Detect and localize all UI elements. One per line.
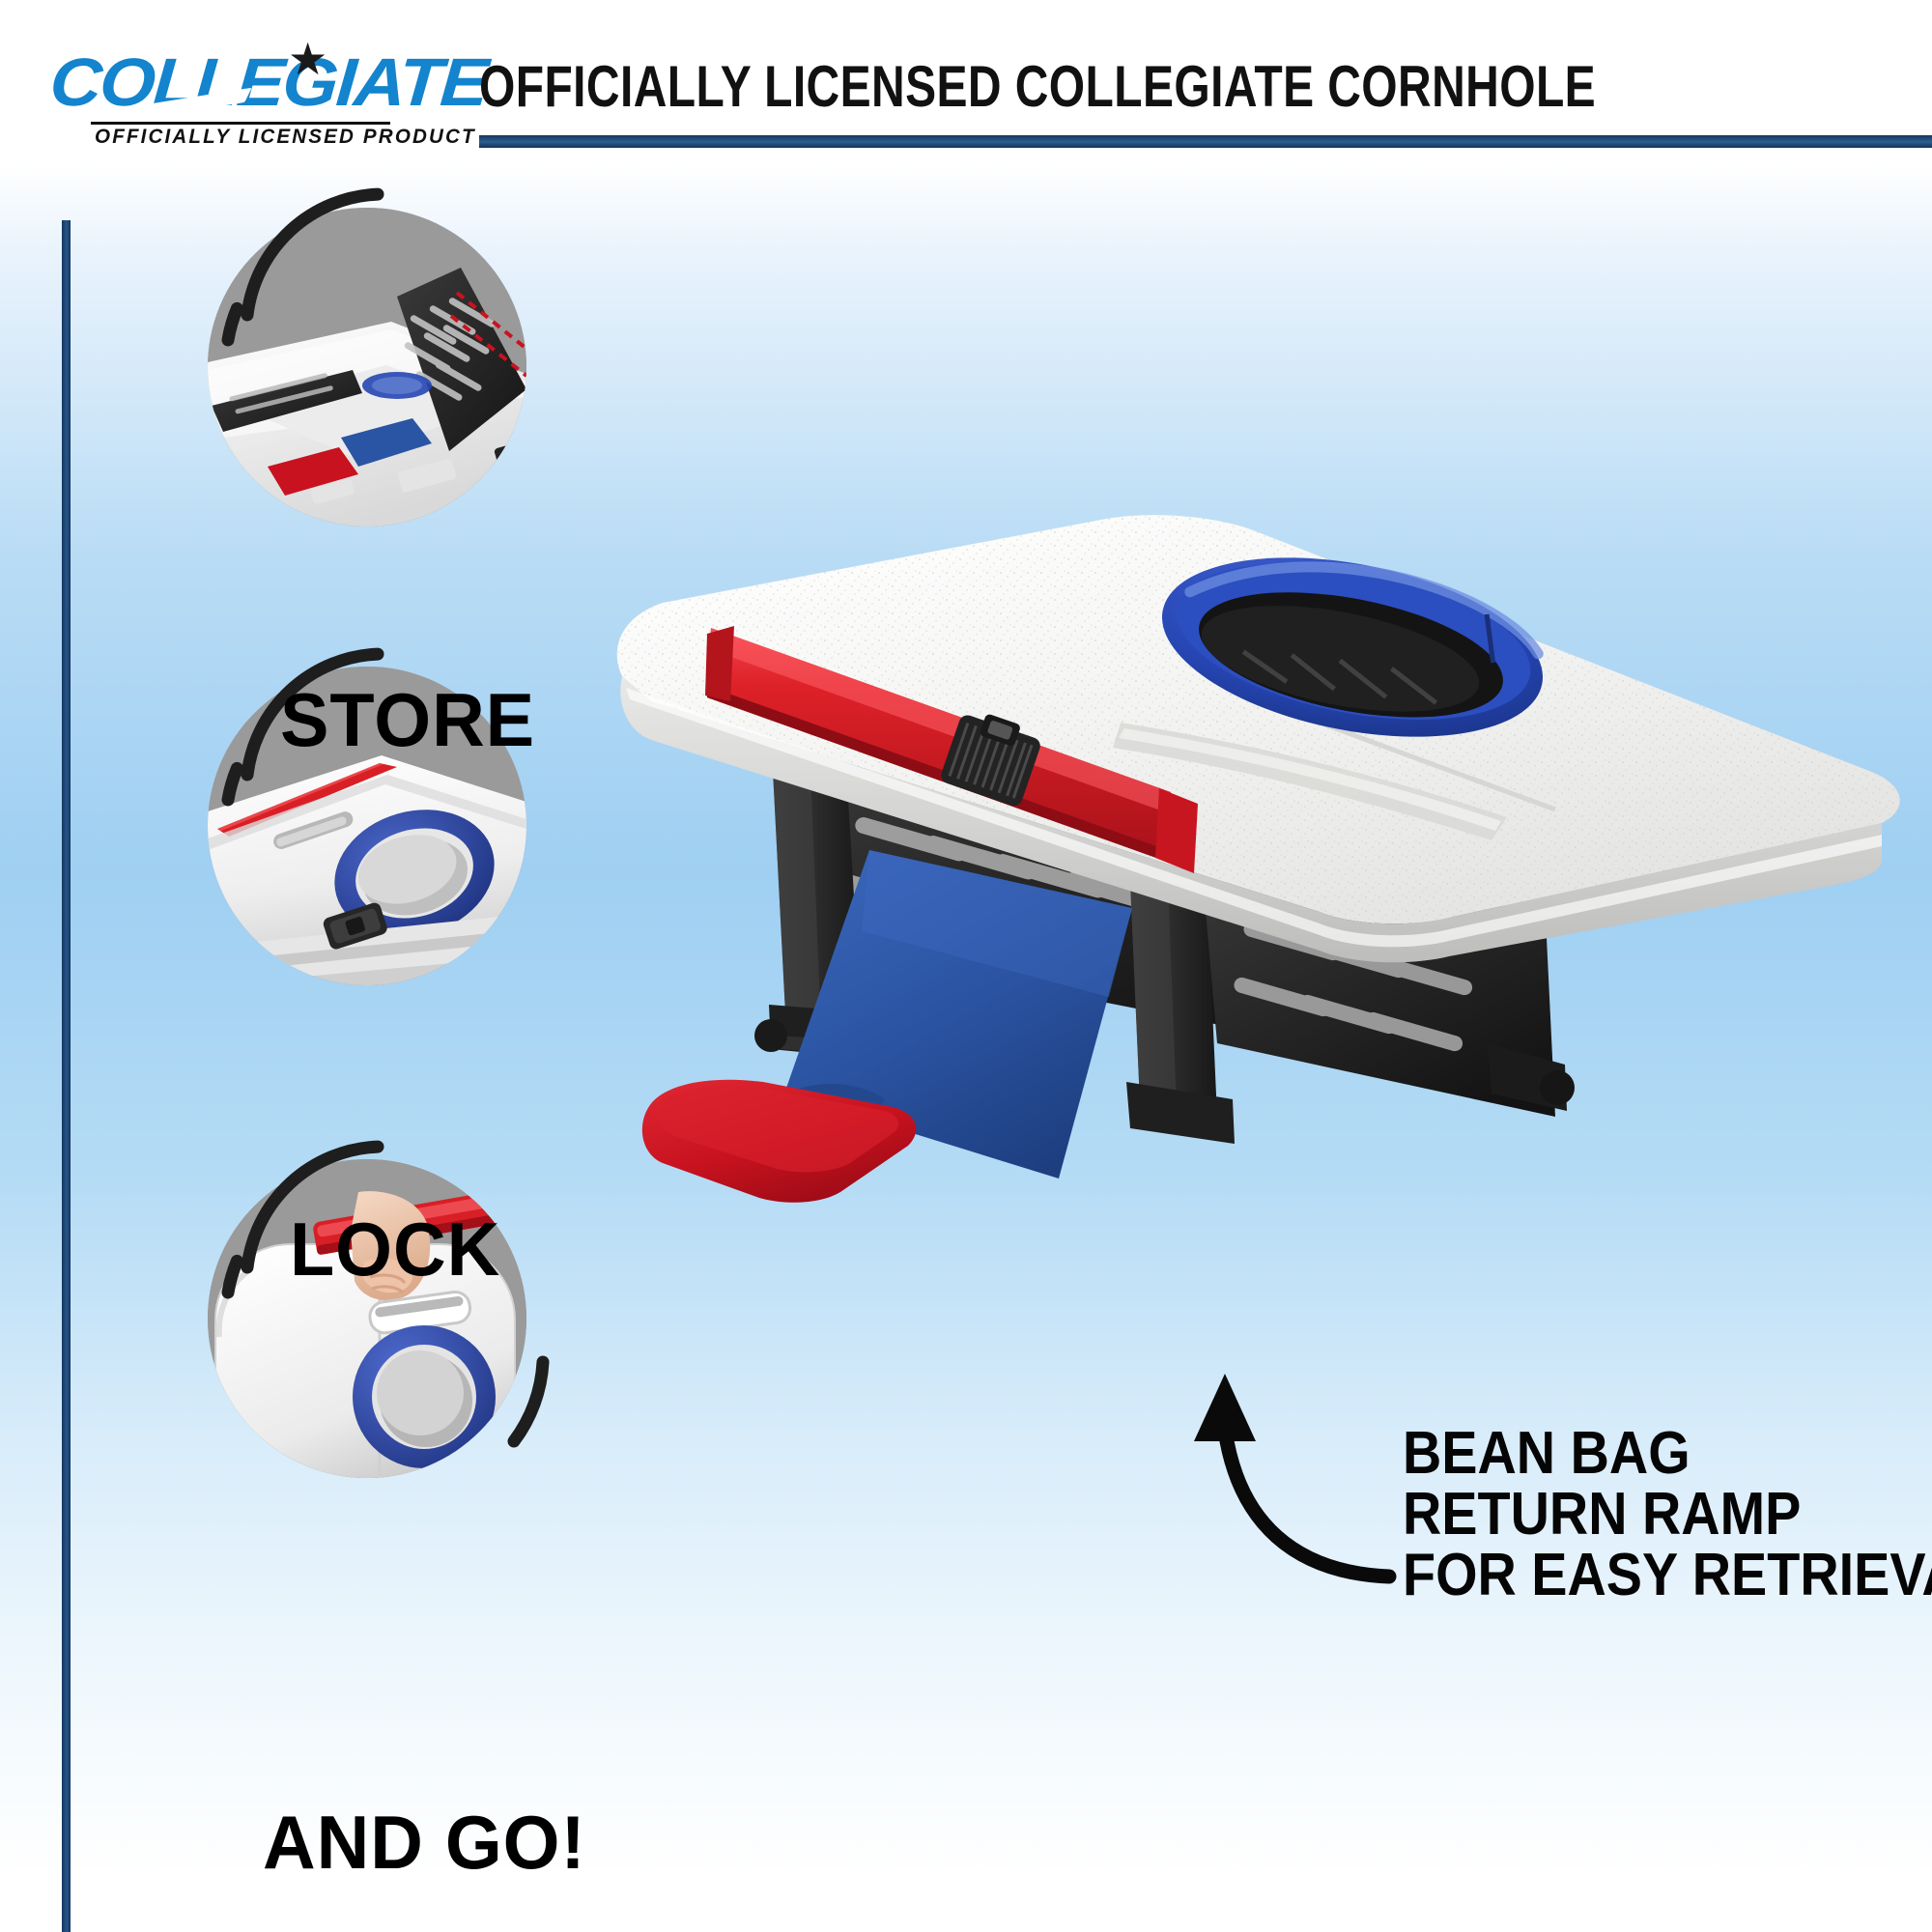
inset-store [208,208,526,526]
step-label-store: STORE [280,676,535,764]
logo-tagline: OFFICIALLY LICENSED PRODUCT [95,126,476,149]
step-label-and-go: AND GO! [263,1799,586,1887]
logo-wordmark: COLLEGIATE [47,48,462,116]
collegiate-logo: COLLEGIATE ★ OFFICIALLY LICENSED PRODUCT [50,48,437,155]
store-scene-illustration [208,208,526,526]
header-underline [479,135,1932,148]
callout-line-1: BEAN BAG [1403,1423,1932,1484]
callout-line-3: FOR EASY RETRIEVAL [1403,1545,1932,1605]
logo-divider [91,122,390,125]
page-title: OFFICIALLY LICENSED COLLEGIATE CORNHOLE [479,53,1596,120]
star-icon: ★ [288,37,327,81]
callout-line-2: RETURN RAMP [1403,1484,1932,1545]
header-bar: COLLEGIATE ★ OFFICIALLY LICENSED PRODUCT… [0,0,1932,166]
step-label-lock: LOCK [290,1206,500,1293]
callout-label: BEAN BAG RETURN RAMP FOR EASY RETRIEVAL [1403,1423,1932,1606]
left-vertical-divider [62,220,71,1932]
